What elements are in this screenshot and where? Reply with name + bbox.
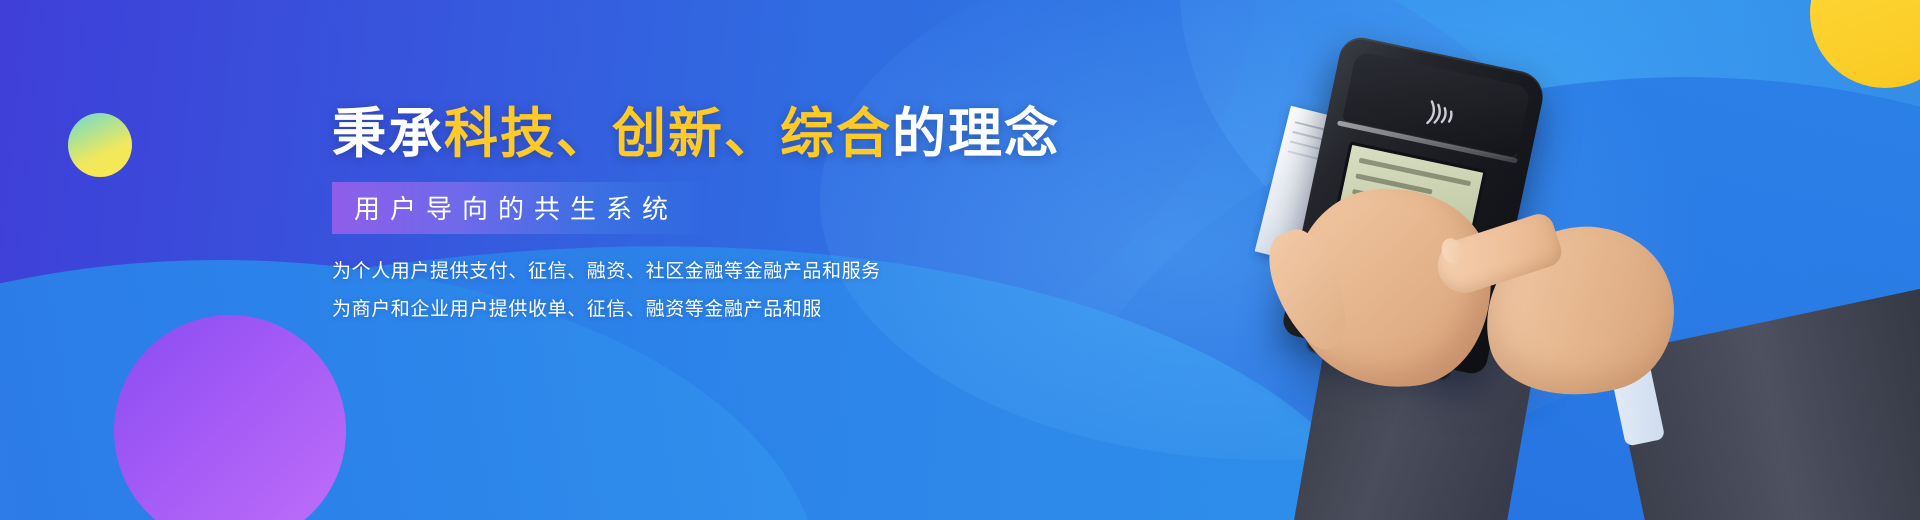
hero-banner: MP360 (BM) F1 ▲ ▼ F4 12ABC3DEF4GHI5JKL6M… [0,0,1920,520]
banner-headline: 秉承科技、创新、综合的理念 [332,104,1092,164]
pos-terminal-photo: MP360 (BM) F1 ▲ ▼ F4 12ABC3DEF4GHI5JKL6M… [1160,0,1920,520]
contactless-icon [1418,96,1457,132]
banner-body-line-1: 为个人用户提供支付、征信、融资、社区金融等金融产品和服务 [332,262,1092,281]
purple-circle-large-icon [114,315,346,520]
headline-segment-0: 秉承 [332,104,444,164]
banner-subtitle: 用户导向的共生系统 [354,189,678,226]
headline-segment-1: 科技、 [444,104,612,164]
headline-segment-3: 综合 [780,104,892,164]
banner-copy: 秉承科技、创新、综合的理念 用户导向的共生系统 为个人用户提供支付、征信、融资、… [332,104,1092,338]
yellow-green-circle-small-icon [68,113,132,177]
headline-segment-2: 创新、 [612,104,780,164]
banner-subtitle-band: 用户导向的共生系统 [332,182,700,234]
banner-body-text: 为个人用户提供支付、征信、融资、社区金融等金融产品和服务 为商户和企业用户提供收… [332,262,1092,319]
banner-body-line-2: 为商户和企业用户提供收单、征信、融资等金融产品和服 [332,300,1092,319]
headline-segment-4: 的理念 [892,104,1060,164]
